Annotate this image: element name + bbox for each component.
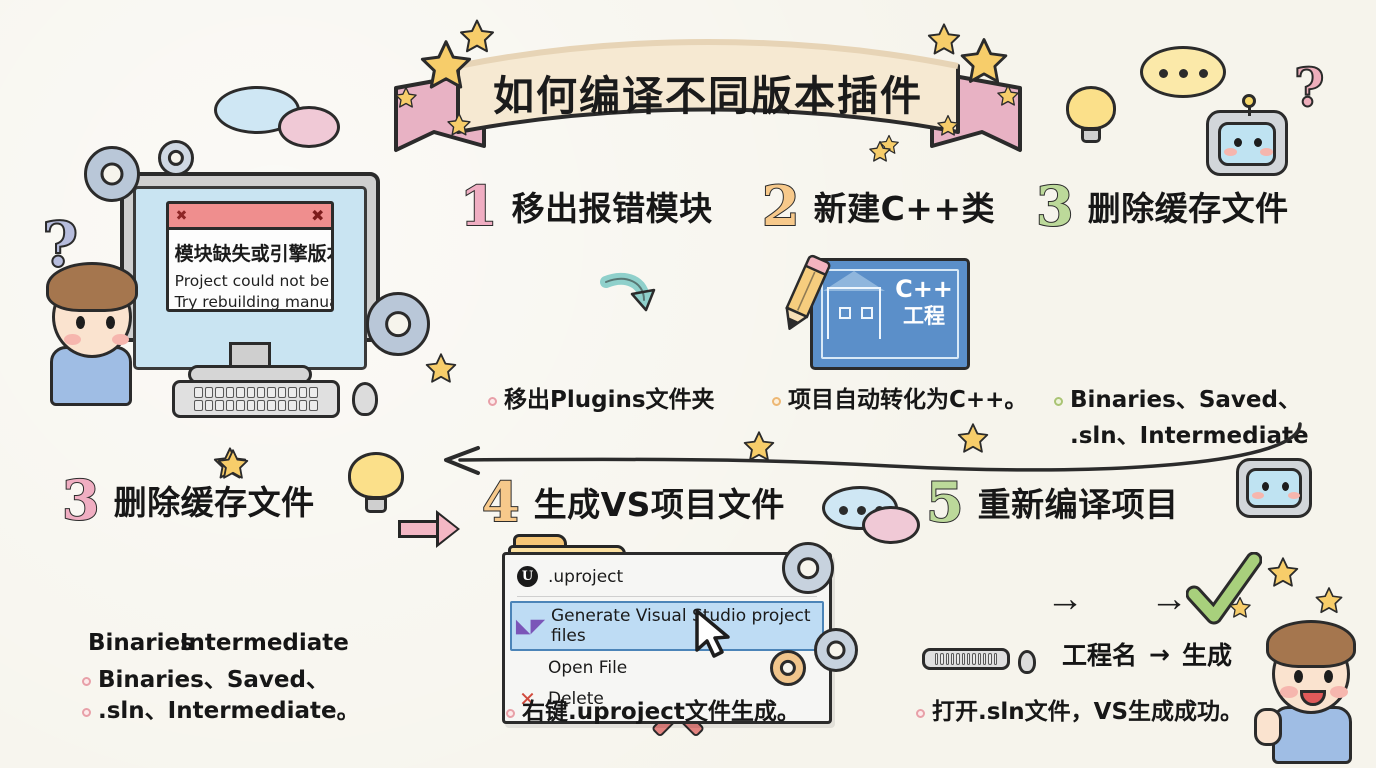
step-1-header: 1 移出报错模块 [460, 182, 718, 231]
step-3b-header: 3 删除缓存文件 [62, 476, 320, 525]
step-3b-caption-line1: Binaries、Saved、 [98, 666, 329, 695]
speech-bubble [862, 506, 920, 544]
question-mark-icon: ? [42, 208, 78, 281]
happy-boy [1254, 612, 1370, 762]
step-3-title: 删除缓存文件 [1084, 190, 1294, 231]
error-message-en-2: Try rebuilding manually. [175, 292, 326, 311]
gear-icon [782, 542, 834, 594]
step-1-title: 移出报错模块 [508, 190, 718, 231]
error-dialog-body: 模块缺失或引擎版本不同！ Project could not be compil… [169, 230, 332, 311]
error-circle-icon: ✖ [176, 207, 188, 224]
binaries-label: Binaries [88, 630, 188, 656]
step-3-number: 3 [1036, 182, 1074, 231]
step-4-caption-text: 右键.uproject文件生成。 [522, 698, 800, 727]
step-1-caption-text: 移出Plugins文件夹 [504, 386, 715, 415]
close-icon[interactable]: ✖ [311, 206, 324, 226]
step-3-header: 3 删除缓存文件 [1036, 182, 1294, 231]
error-message-cn: 模块缺失或引擎版本不同！ [175, 239, 326, 266]
menu-item-generate-vs-files[interactable]: ◣◤ Generate Visual Studio project files [510, 601, 824, 651]
step-5-number: 5 [926, 478, 964, 527]
mouse-cursor-icon [692, 608, 734, 662]
error-dialog: ✖ ✖ 模块缺失或引擎版本不同！ Project could not be co… [166, 201, 335, 311]
step-3b-title: 删除缓存文件 [110, 484, 320, 525]
step-4-caption: 右键.uproject文件生成。 [506, 698, 800, 727]
flow-project-name: 工程名 [1062, 636, 1137, 672]
success-check-icon [1186, 552, 1262, 632]
cpp-blueprint: C++ 工程 [810, 258, 970, 370]
question-mark-icon: ? [1294, 58, 1324, 119]
mouse [352, 382, 378, 416]
speech-bubble [1140, 46, 1226, 98]
gear-icon [814, 628, 858, 672]
step-3b-caption: Binaries、Saved、 .sln、Intermediate。 [82, 666, 360, 727]
arrow-right-glyph: → [1046, 580, 1084, 618]
gear-icon [158, 140, 194, 176]
gear-icon [770, 650, 806, 686]
result-mouse [1018, 650, 1036, 674]
step-1-caption: 移出Plugins文件夹 [488, 386, 715, 415]
menu-item-label: Open File [548, 658, 627, 678]
bullet-icon [1054, 397, 1063, 406]
arrow-right [398, 508, 460, 550]
error-monitor: ✖ ✖ 模块缺失或引擎版本不同！ Project could not be co… [120, 172, 380, 402]
lightbulb-icon [1066, 86, 1116, 144]
bullet-icon [916, 709, 925, 718]
step-3b-caption-line2: .sln、Intermediate。 [98, 697, 360, 726]
step-3b-number: 3 [62, 476, 100, 525]
step-5-caption: 打开.sln文件，VS生成成功。 [916, 698, 1243, 727]
pencil-icon [778, 252, 832, 336]
move-arrow [600, 272, 656, 316]
step-4-header: 4 生成VS项目文件 [482, 478, 790, 527]
intermediate-label: Intermediate [180, 630, 320, 656]
bullet-icon [488, 397, 497, 406]
bullet-icon [82, 677, 91, 686]
step-2-caption-text: 项目自动转化为C++。 [788, 386, 1027, 415]
flow-build: 生成 [1182, 636, 1232, 672]
visual-studio-icon: ◣◤ [520, 616, 541, 637]
menu-item-label: .uproject [548, 567, 623, 587]
infographic-canvas: 如何编译不同版本插件 ✖ ✖ 模块缺失或引擎版本不同！ Project coul… [0, 0, 1376, 768]
gear-icon [84, 146, 140, 202]
step-5-title: 重新编译项目 [974, 486, 1184, 527]
blueprint-cpp-label: C++ [893, 277, 955, 301]
step-4-title: 生成VS项目文件 [530, 486, 790, 527]
robot-mascot [1230, 448, 1318, 520]
menu-item-uproject[interactable]: U .uproject [505, 561, 829, 592]
step-4-number: 4 [482, 478, 520, 527]
speech-bubble [278, 106, 340, 148]
arrow-right-glyph: → [1150, 580, 1188, 618]
step-3-caption-line1: Binaries、Saved、 [1070, 386, 1301, 415]
page-title: 如何编译不同版本插件 [388, 62, 1028, 122]
bullet-icon [82, 708, 91, 717]
step-2-header: 2 新建C++类 [762, 182, 1000, 231]
step-2-number: 2 [762, 182, 800, 231]
bullet-icon [506, 709, 515, 718]
result-keyboard [922, 648, 1010, 670]
robot-mascot [1200, 100, 1294, 178]
lightbulb-icon [348, 452, 404, 514]
flow-arrow-glyph: → [1149, 640, 1170, 669]
menu-item-label: Generate Visual Studio project files [551, 606, 814, 646]
step-1-number: 1 [460, 182, 498, 231]
step-5-flow: 工程名 → 生成 [1062, 636, 1232, 672]
step-2-caption: 项目自动转化为C++。 [772, 386, 1027, 415]
keyboard [172, 380, 340, 418]
error-message-en-1: Project could not be compiled. [175, 271, 326, 292]
thumbs-up-icon [1254, 708, 1282, 746]
bullet-icon [772, 397, 781, 406]
step-5-header: 5 重新编译项目 [926, 478, 1184, 527]
menu-separator [517, 596, 817, 597]
error-dialog-titlebar: ✖ ✖ [169, 204, 332, 230]
blueprint-project-label: 工程 [893, 304, 955, 328]
step-2-title: 新建C++类 [810, 190, 1001, 231]
unreal-engine-icon: U [517, 566, 538, 587]
gear-icon [366, 292, 430, 356]
step-5-caption-text: 打开.sln文件，VS生成成功。 [932, 698, 1243, 727]
